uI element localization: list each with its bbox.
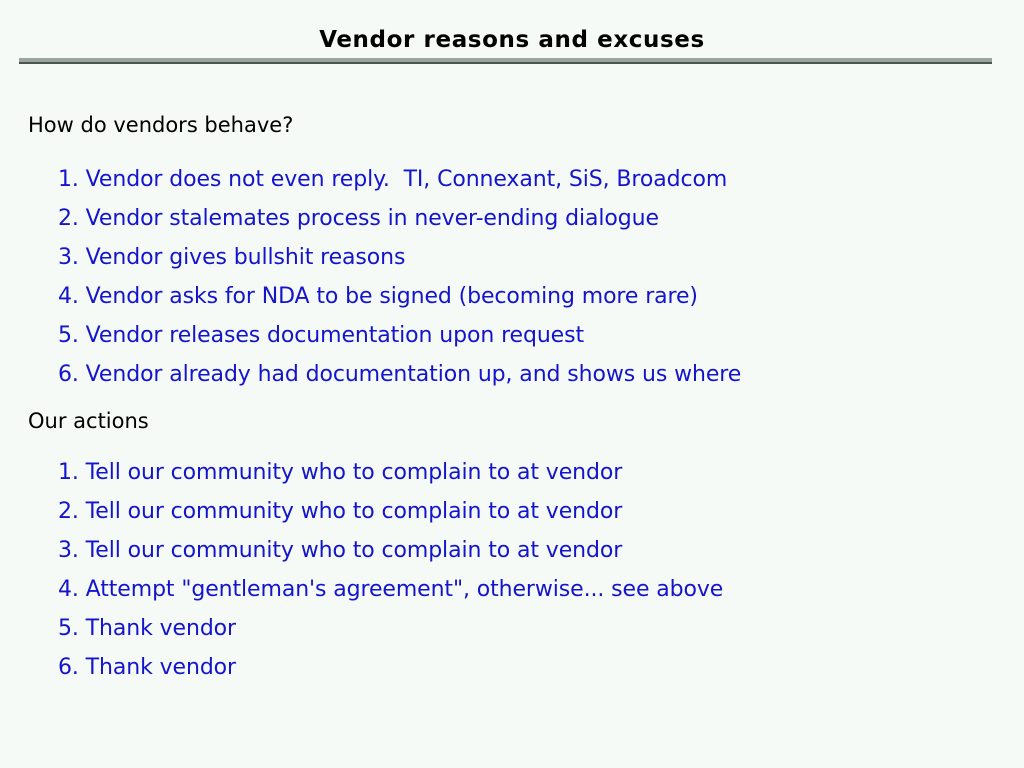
list-item: 6. Thank vendor bbox=[58, 651, 723, 690]
vendor-behavior-list: 1. Vendor does not even reply. TI, Conne… bbox=[58, 163, 741, 397]
list-item: 1. Tell our community who to complain to… bbox=[58, 456, 723, 495]
presentation-slide: Vendor reasons and excuses How do vendor… bbox=[0, 0, 1024, 768]
list-item: 2. Tell our community who to complain to… bbox=[58, 495, 723, 534]
list-item: 4. Attempt "gentleman's agreement", othe… bbox=[58, 573, 723, 612]
list-item: 6. Vendor already had documentation up, … bbox=[58, 358, 741, 397]
list-item: 3. Tell our community who to complain to… bbox=[58, 534, 723, 573]
list-item: 2. Vendor stalemates process in never-en… bbox=[58, 202, 741, 241]
section-heading-our-actions: Our actions bbox=[28, 408, 149, 434]
section-heading-how-do-vendors-behave: How do vendors behave? bbox=[28, 112, 293, 138]
list-item: 1. Vendor does not even reply. TI, Conne… bbox=[58, 163, 741, 202]
slide-body: How do vendors behave? 1. Vendor does no… bbox=[0, 0, 1024, 768]
list-item: 5. Thank vendor bbox=[58, 612, 723, 651]
our-actions-list: 1. Tell our community who to complain to… bbox=[58, 456, 723, 690]
list-item: 5. Vendor releases documentation upon re… bbox=[58, 319, 741, 358]
list-item: 3. Vendor gives bullshit reasons bbox=[58, 241, 741, 280]
list-item: 4. Vendor asks for NDA to be signed (bec… bbox=[58, 280, 741, 319]
